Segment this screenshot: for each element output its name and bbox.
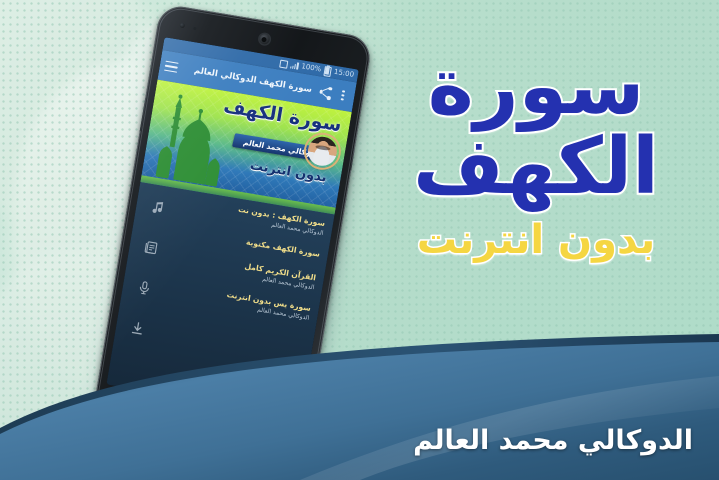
hamburger-menu-icon[interactable] (164, 60, 179, 73)
content-list-area: سورة الكهف : بدون نت الدوكالي محمد العال… (106, 182, 334, 417)
playlist-document-icon[interactable] (142, 239, 159, 256)
promo-title-block: سورة الكهف بدون انترنت (371, 48, 701, 263)
promo-title-sub: بدون انترنت (371, 217, 701, 263)
sim-card-icon (279, 59, 288, 68)
signal-bars-icon (290, 61, 299, 69)
battery-icon (323, 66, 332, 77)
music-note-icon[interactable] (149, 198, 166, 215)
promo-title-main: سورة الكهف (371, 48, 701, 207)
download-icon[interactable] (129, 320, 146, 337)
share-icon[interactable] (318, 85, 333, 100)
mosque-silhouette-icon (148, 90, 235, 187)
microphone-icon[interactable] (135, 279, 152, 296)
battery-percent-label: 100% (301, 63, 322, 73)
reciter-face (306, 135, 339, 168)
status-clock: 15:00 (333, 69, 354, 79)
overflow-menu-icon[interactable] (335, 88, 350, 103)
promo-artwork-stage: سورة الكهف بدون انترنت 100% 15:00 (0, 0, 719, 480)
